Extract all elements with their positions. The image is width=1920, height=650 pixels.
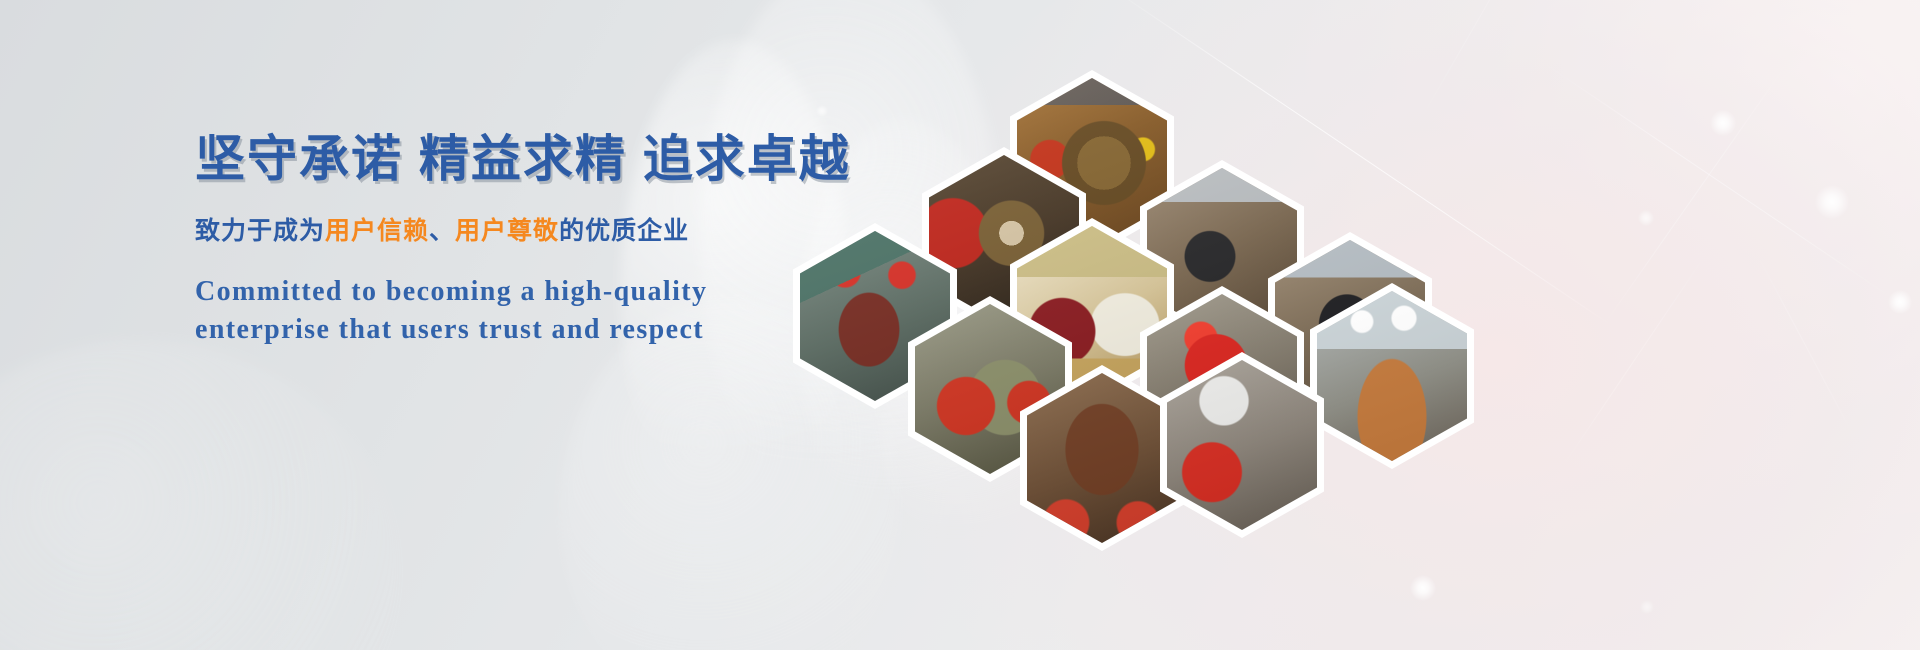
hexagon-photo-gallery [0,0,1920,650]
hero-banner: 坚守承诺 精益求精 追求卓越 致力于成为用户信赖、用户尊敬的优质企业 Commi… [0,0,1920,650]
photo-site-inspection [1167,360,1317,530]
photo-casting-component [1027,373,1177,543]
photo-workshop-overview [1317,291,1467,461]
